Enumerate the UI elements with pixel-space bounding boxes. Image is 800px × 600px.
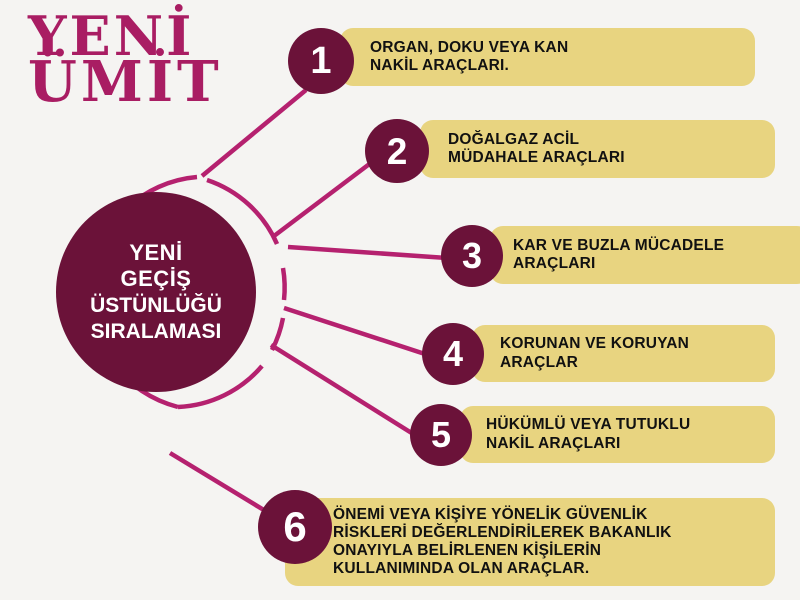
item-6-bar: ÖNEMİ VEYA KİŞİYE YÖNELİK GÜVENLİK RİSKL… bbox=[285, 498, 775, 586]
infographic-canvas: YENİ ÜMİT YENİ GEÇİŞ ÜSTÜNLÜĞÜ SIRALAMAS… bbox=[0, 0, 800, 600]
item-3-number-badge[interactable]: 3 bbox=[441, 225, 503, 287]
hub-ring-arc-right-upper bbox=[283, 268, 285, 300]
item-1-bar: ORGAN, DOKU VEYA KAN NAKİL ARAÇLARI. bbox=[340, 28, 755, 86]
item-3-label: KAR VE BUZLA MÜCADELE ARAÇLARI bbox=[513, 237, 724, 273]
item-6-number-badge[interactable]: 6 bbox=[258, 490, 332, 564]
hub-line-4: SIRALAMASI bbox=[91, 319, 222, 345]
connector-line-6 bbox=[170, 453, 272, 515]
item-4-label: KORUNAN VE KORUYAN ARAÇLAR bbox=[500, 335, 689, 371]
hub-line-3: ÜSTÜNLÜĞÜ bbox=[90, 293, 222, 319]
item-4-bar: KORUNAN VE KORUYAN ARAÇLAR bbox=[472, 325, 775, 382]
connector-line-4 bbox=[284, 308, 428, 355]
item-2-label: DOĞALGAZ ACİL MÜDAHALE ARAÇLARI bbox=[448, 131, 625, 167]
connector-line-5 bbox=[271, 345, 418, 437]
item-4-number-badge[interactable]: 4 bbox=[422, 323, 484, 385]
item-2-bar: DOĞALGAZ ACİL MÜDAHALE ARAÇLARI bbox=[420, 120, 775, 178]
connector-line-3 bbox=[288, 247, 447, 258]
item-3-bar: KAR VE BUZLA MÜCADELE ARAÇLARI bbox=[490, 226, 800, 284]
item-1-number-badge[interactable]: 1 bbox=[288, 28, 354, 94]
item-1-label: ORGAN, DOKU VEYA KAN NAKİL ARAÇLARI. bbox=[370, 39, 568, 75]
item-5-label: HÜKÜMLÜ VEYA TUTUKLU NAKİL ARAÇLARI bbox=[486, 416, 690, 452]
item-2-number-badge[interactable]: 2 bbox=[365, 119, 429, 183]
item-6-label: ÖNEMİ VEYA KİŞİYE YÖNELİK GÜVENLİK RİSKL… bbox=[333, 506, 672, 579]
hub-circle: YENİ GEÇİŞ ÜSTÜNLÜĞÜ SIRALAMASI bbox=[56, 192, 256, 392]
connector-line-2 bbox=[274, 156, 380, 236]
hub-line-1: YENİ bbox=[129, 240, 182, 267]
item-5-number-badge[interactable]: 5 bbox=[410, 404, 472, 466]
connector-line-1 bbox=[202, 90, 306, 176]
item-5-bar: HÜKÜMLÜ VEYA TUTUKLU NAKİL ARAÇLARI bbox=[460, 406, 775, 463]
hub-line-2: GEÇİŞ bbox=[121, 266, 192, 293]
